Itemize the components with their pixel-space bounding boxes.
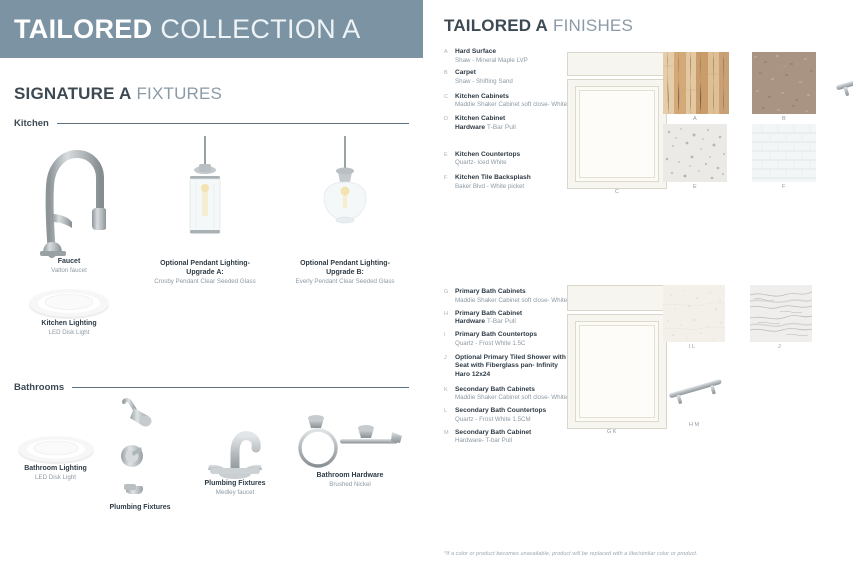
legend-desc: Quartz- Iced White: [455, 159, 569, 167]
fixture-plumbing-shower: Plumbing Fixtures: [95, 392, 185, 513]
finishes-heading-light: FINISHES: [553, 16, 633, 36]
legend-item: K Secondary Bath Cabinets Maddie Shaker …: [444, 386, 569, 403]
bathrooms-section-header: Bathrooms: [14, 382, 409, 393]
legend-item: L Secondary Bath Countertops Quartz - Fr…: [444, 407, 569, 424]
legend-desc: Baker Blvd - White picket: [455, 183, 569, 191]
legend-name: Kitchen Cabinets: [455, 93, 569, 102]
disk-light-icon: [8, 425, 103, 465]
legend-item: C Kitchen Cabinets Maddie Shaker Cabinet…: [444, 93, 569, 110]
fixture-desc: LED Disk Light: [8, 474, 103, 482]
legend-letter: I: [444, 331, 455, 348]
swatch-label-e: E: [693, 184, 697, 190]
fixture-bathroom-lighting: Bathroom Lighting LED Disk Light: [8, 425, 103, 482]
signature-heading-bold: SIGNATURE A: [14, 84, 131, 104]
legend-name-2: Hardware T-Bar Pull: [455, 124, 569, 133]
kitchen-faucet-icon: [14, 140, 124, 258]
swatch-label-hm: H M: [689, 422, 699, 428]
legend-desc: Maddie Shaker Cabinet soft close- White: [455, 101, 569, 109]
legend-item: I Primary Bath Countertops Quartz - Fros…: [444, 331, 569, 348]
legend-name: Kitchen Tile Backsplash: [455, 174, 569, 183]
legend-item: M Secondary Bath Cabinet Hardware- T-bar…: [444, 429, 569, 446]
legend-name: Kitchen Cabinet: [455, 115, 569, 124]
fixture-title: Bathroom Lighting: [8, 465, 103, 474]
legend-item: F Kitchen Tile Backsplash Baker Blvd - W…: [444, 174, 569, 191]
fixture-desc: LED Disk Light: [14, 329, 124, 337]
fixture-pendant-upgrade-b: Optional Pendant Lighting- Upgrade B: Ev…: [290, 135, 400, 285]
shower-trim-icon: [95, 392, 185, 504]
legend-letter: D: [444, 115, 455, 132]
legend-letter: M: [444, 429, 455, 446]
legend-letter: K: [444, 386, 455, 403]
fixture-desc: Medley faucet: [180, 489, 290, 497]
left-column: TAILORED COLLECTION A SIGNATURE A FIXTUR…: [0, 0, 423, 569]
legend-item: E Kitchen Countertops Quartz- Iced White: [444, 151, 569, 168]
legend-inline: T-Bar Pull: [487, 318, 516, 325]
legend-name: Carpet: [455, 69, 569, 78]
bathrooms-divider: [72, 387, 409, 388]
fixture-title: Plumbing Fixtures: [180, 480, 290, 489]
bathrooms-label: Bathrooms: [14, 382, 64, 393]
title-light: COLLECTION A: [160, 14, 360, 45]
collection-title-bar: TAILORED COLLECTION A: [0, 0, 423, 58]
fixture-bathroom-hardware: Bathroom Hardware Brushed Nickel: [295, 408, 405, 489]
swatch-label-b: B: [782, 116, 786, 122]
fixture-title: Bathroom Hardware: [295, 472, 405, 481]
towel-ring-bar-icon: [295, 408, 405, 472]
legend-item: J Optional Primary Tiled Shower with Sea…: [444, 354, 569, 380]
legend-name: Primary Bath Cabinet: [455, 310, 569, 319]
fixture-plumbing-lavatory: Plumbing Fixtures Medley faucet: [180, 420, 290, 497]
finishes-heading-bold: TAILORED A: [444, 16, 548, 36]
legend-top: A Hard Surface Shaw - Mineral Maple LVP …: [444, 48, 569, 195]
fixture-kitchen-lighting: Kitchen Lighting LED Disk Light: [14, 280, 124, 337]
fixture-desc: Brushed Nickel: [295, 481, 405, 489]
disclaimer-footnote: *If a color or product becomes unavailab…: [444, 551, 698, 557]
right-column: TAILORED A FINISHES A Hard Surface Shaw …: [430, 0, 853, 569]
fixture-desc: Valton faucet: [14, 267, 124, 275]
legend-letter: G: [444, 288, 455, 305]
legend-name: Secondary Bath Cabinet: [455, 429, 569, 438]
legend-name: Secondary Bath Countertops: [455, 407, 569, 416]
fixture-desc: Everly Pendant Clear Seeded Glass: [290, 278, 400, 286]
legend-bottom: G Primary Bath Cabinets Maddie Shaker Ca…: [444, 288, 569, 450]
legend-letter: H: [444, 310, 455, 327]
legend-desc: Shaw - Shifting Sand: [455, 78, 569, 86]
fixture-title: Optional Pendant Lighting- Upgrade B:: [290, 260, 400, 278]
legend-desc: Quartz - Frost White 1.5C: [455, 340, 569, 348]
legend-item: A Hard Surface Shaw - Mineral Maple LVP: [444, 48, 569, 65]
legend-item: D Kitchen Cabinet Hardware T-Bar Pull: [444, 115, 569, 132]
swatch-label-f: F: [782, 184, 785, 190]
swatch-bath-hardware: H M: [663, 362, 729, 420]
swatch-kitchen-hardware: D: [830, 52, 853, 114]
legend-letter: A: [444, 48, 455, 65]
title-bold: TAILORED: [14, 14, 152, 45]
legend-letter: F: [444, 174, 455, 191]
kitchen-divider: [57, 123, 409, 124]
swatch-label-gk: G K: [607, 429, 616, 435]
cylinder-pendant-icon: [150, 135, 260, 260]
swatch-bath-countertop: I L: [663, 285, 725, 342]
swatch-hard-surface: A: [663, 52, 729, 114]
cabinet-door-kitchen: C: [567, 52, 667, 197]
fixture-title: Faucet: [14, 258, 124, 267]
legend-letter: E: [444, 151, 455, 168]
legend-desc: Maddie Shaker Cabinet soft close- White: [455, 394, 569, 402]
swatch-label-il: I L: [689, 344, 695, 350]
swatch-carpet: B: [752, 52, 816, 114]
swatch-shower-tile: J: [750, 285, 812, 342]
legend-name: Primary Bath Countertops: [455, 331, 569, 340]
legend-item: B Carpet Shaw - Shifting Sand: [444, 69, 569, 86]
signature-heading-light: FIXTURES: [136, 84, 222, 104]
fixture-title: Kitchen Lighting: [14, 320, 124, 329]
signature-fixtures-heading: SIGNATURE A FIXTURES: [14, 84, 423, 104]
legend-desc: Hardware- T-bar Pull: [455, 437, 569, 445]
kitchen-section-header: Kitchen: [14, 118, 409, 129]
legend-inline: T-Bar Pull: [487, 124, 516, 131]
fixture-pendant-upgrade-a: Optional Pendant Lighting- Upgrade A: Cr…: [150, 135, 260, 285]
legend-letter: J: [444, 354, 455, 380]
swatch-kitchen-countertop: E: [663, 124, 727, 182]
legend-name: Hard Surface: [455, 48, 569, 57]
legend-name: Secondary Bath Cabinets: [455, 386, 569, 395]
swatch-label-c: C: [615, 189, 619, 195]
legend-desc: Shaw - Mineral Maple LVP: [455, 57, 569, 65]
lavatory-faucet-icon: [180, 420, 290, 480]
legend-desc: Maddie Shaker Cabinet soft close- White: [455, 297, 569, 305]
legend-item: H Primary Bath Cabinet Hardware T-Bar Pu…: [444, 310, 569, 327]
legend-name: Optional Primary Tiled Shower with Seat …: [455, 354, 569, 380]
disk-light-icon: [14, 280, 124, 320]
cabinet-door-bath: G K: [567, 285, 667, 435]
swatch-label-j: J: [778, 344, 781, 350]
legend-name-2: Hardware T-Bar Pull: [455, 318, 569, 327]
legend-name: Kitchen Countertops: [455, 151, 569, 160]
schoolhouse-pendant-icon: [290, 135, 400, 260]
fixture-title: Plumbing Fixtures: [95, 504, 185, 513]
legend-letter: B: [444, 69, 455, 86]
legend-name: Primary Bath Cabinets: [455, 288, 569, 297]
legend-desc: Quartz - Frost White 1.5CM: [455, 416, 569, 424]
legend-item: G Primary Bath Cabinets Maddie Shaker Ca…: [444, 288, 569, 305]
finishes-heading: TAILORED A FINISHES: [444, 16, 853, 36]
legend-letter: C: [444, 93, 455, 110]
fixture-desc: Crosby Pendant Clear Seeded Glass: [150, 278, 260, 286]
fixture-title: Optional Pendant Lighting- Upgrade A:: [150, 260, 260, 278]
fixture-kitchen-faucet: Faucet Valton faucet: [14, 140, 124, 275]
kitchen-label: Kitchen: [14, 118, 49, 129]
swatch-kitchen-backsplash: F: [752, 124, 816, 182]
legend-letter: L: [444, 407, 455, 424]
swatch-label-a: A: [693, 116, 697, 122]
